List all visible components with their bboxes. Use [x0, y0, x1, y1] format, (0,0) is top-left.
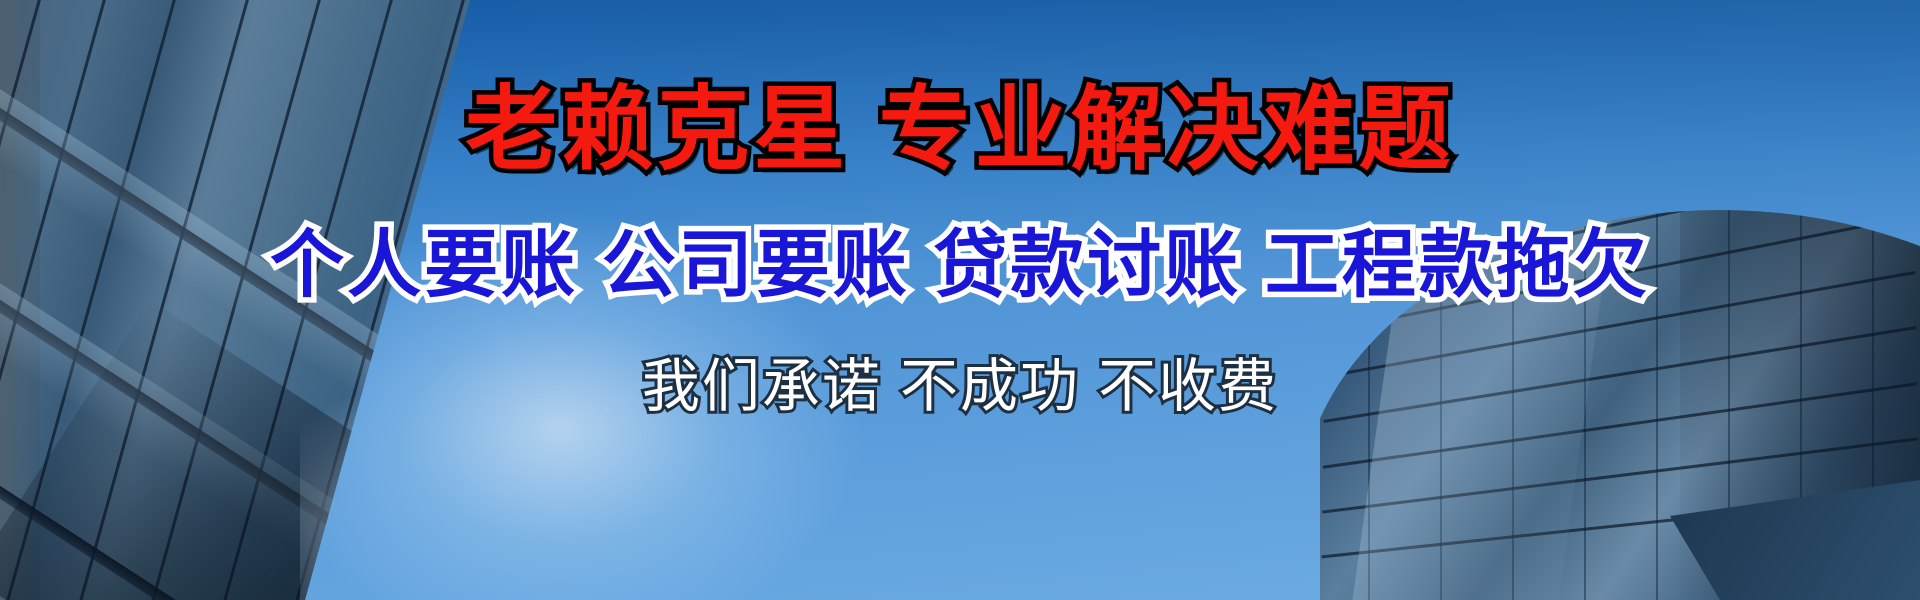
promise-tagline: 我们承诺 不成功 不收费: [0, 358, 1920, 416]
services-text: 个人要账 公司要账 贷款讨账 工程款拖欠: [0, 228, 1920, 302]
headline-text: 老赖克星 专业解决难题: [0, 84, 1920, 176]
banner-stage: 老赖克星 专业解决难题 个人要账 公司要账 贷款讨账 工程款拖欠 我们承诺 不成…: [0, 0, 1920, 600]
